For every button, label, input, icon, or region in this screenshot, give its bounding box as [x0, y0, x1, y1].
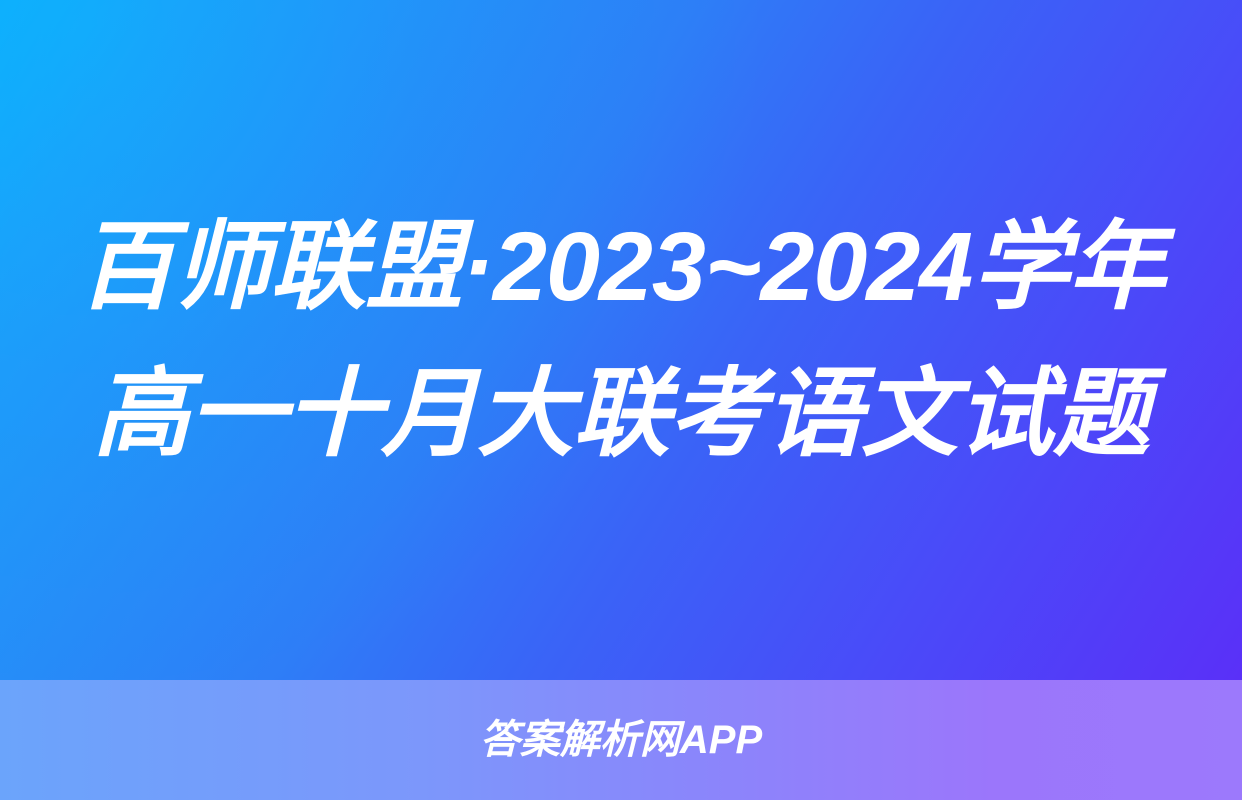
- hero-gradient-banner: 百师联盟·2023~2024学年高一十月大联考语文试题: [0, 0, 1242, 680]
- page-title: 百师联盟·2023~2024学年高一十月大联考语文试题: [76, 193, 1166, 488]
- watermark-band: 答案解析网APP: [0, 680, 1242, 800]
- poster-canvas: 百师联盟·2023~2024学年高一十月大联考语文试题 答案解析网APP: [0, 0, 1242, 800]
- watermark-app-label: 答案解析网APP: [480, 720, 762, 760]
